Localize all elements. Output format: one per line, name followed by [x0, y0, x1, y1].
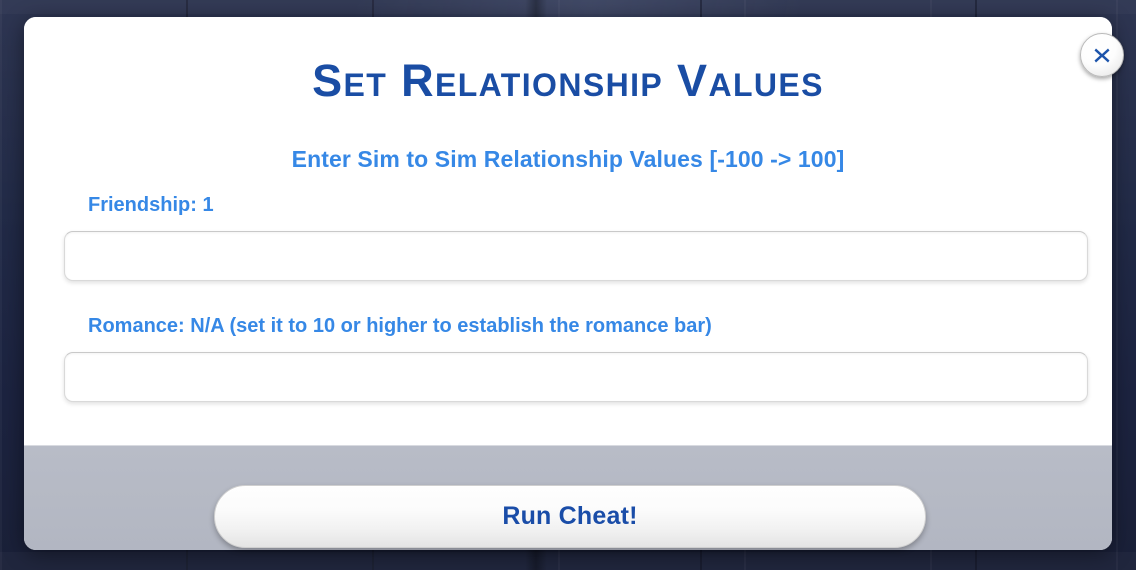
friendship-label: Friendship: 1	[64, 192, 1072, 218]
dialog-footer: Run Cheat!	[24, 445, 1112, 550]
run-cheat-button[interactable]: Run Cheat!	[214, 485, 926, 548]
romance-field-group: Romance: N/A (set it to 10 or higher to …	[64, 313, 1072, 402]
romance-label: Romance: N/A (set it to 10 or higher to …	[64, 313, 1072, 339]
friendship-input[interactable]	[64, 231, 1088, 281]
romance-input[interactable]	[64, 352, 1088, 402]
backdrop-band	[0, 0, 1136, 14]
friendship-field-group: Friendship: 1	[64, 192, 1072, 281]
backdrop-band	[0, 552, 1136, 570]
set-relationship-values-dialog: Set Relationship Values Enter Sim to Sim…	[24, 17, 1112, 550]
close-icon[interactable]	[1080, 33, 1124, 77]
page-title: Set Relationship Values	[24, 55, 1112, 107]
dialog-subtitle: Enter Sim to Sim Relationship Values [-1…	[24, 145, 1112, 173]
dialog-body: Set Relationship Values Enter Sim to Sim…	[24, 17, 1112, 445]
